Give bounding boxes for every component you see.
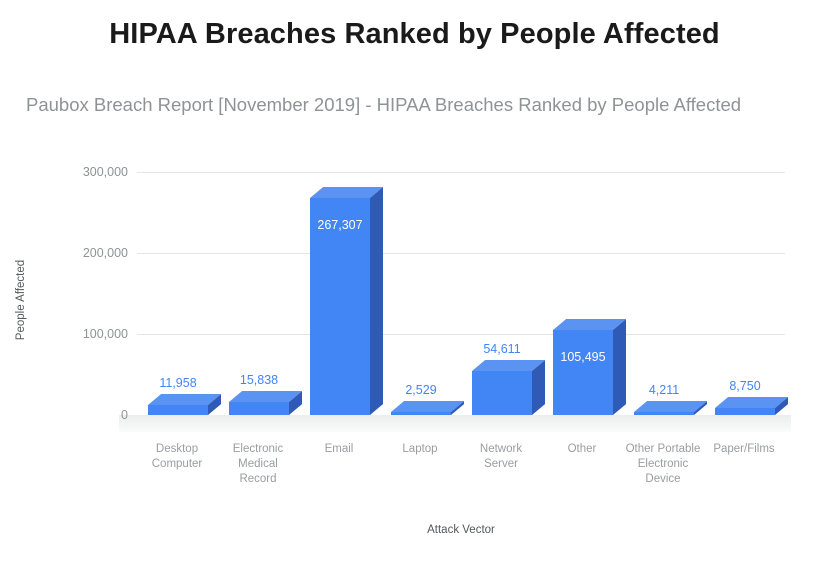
- bar-value-label: 11,958: [135, 376, 221, 390]
- bar-value-label: 267,307: [297, 218, 383, 232]
- x-axis-category-label: Desktop Computer: [139, 442, 215, 472]
- x-axis-category-label: Electronic Medical Record: [220, 442, 296, 487]
- bar-front-face: [472, 371, 532, 415]
- bar-front-face: [229, 402, 289, 415]
- bar-front-face: [391, 412, 451, 415]
- x-axis-category-label: Laptop: [382, 442, 458, 457]
- bar-shadow: [465, 414, 540, 427]
- bar-shadow: [141, 414, 216, 427]
- bar-side-face: [613, 319, 626, 415]
- bar[interactable]: [148, 405, 208, 415]
- x-axis-category-label: Paper/Films: [706, 442, 782, 457]
- bar-value-label: 54,611: [459, 342, 545, 356]
- bar-value-label: 15,838: [216, 373, 302, 387]
- bar-front-face: [148, 405, 208, 415]
- bar-shadow: [303, 414, 378, 427]
- bars-layer: 11,958Desktop Computer15,838Electronic M…: [0, 0, 829, 565]
- bar-shadow: [708, 414, 783, 427]
- bar-shadow: [222, 414, 297, 427]
- x-axis-title: Attack Vector: [137, 524, 785, 536]
- bar-front-face: [715, 408, 775, 415]
- bar-value-label: 4,211: [621, 383, 707, 397]
- x-axis-category-label: Email: [301, 442, 377, 457]
- bar-value-label: 2,529: [378, 383, 464, 397]
- x-axis-category-label: Other: [544, 442, 620, 457]
- bar[interactable]: [715, 408, 775, 415]
- plot-area: 0100,000200,000300,000 People Affected 1…: [0, 0, 829, 565]
- bar[interactable]: [472, 371, 532, 415]
- bar[interactable]: [634, 412, 694, 415]
- bar-value-label: 8,750: [702, 379, 788, 393]
- bar-shadow: [546, 414, 621, 427]
- bar-value-label: 105,495: [540, 350, 626, 364]
- bar[interactable]: [391, 412, 451, 415]
- bar[interactable]: [553, 330, 613, 415]
- bar-side-face: [532, 360, 545, 415]
- bar-shadow: [627, 414, 702, 427]
- bar-front-face: [634, 412, 694, 415]
- bar[interactable]: [229, 402, 289, 415]
- x-axis-category-label: Other Portable Electronic Device: [625, 442, 701, 487]
- x-axis-category-label: Network Server: [463, 442, 539, 472]
- bar-shadow: [384, 414, 459, 427]
- bar-front-face: [553, 330, 613, 415]
